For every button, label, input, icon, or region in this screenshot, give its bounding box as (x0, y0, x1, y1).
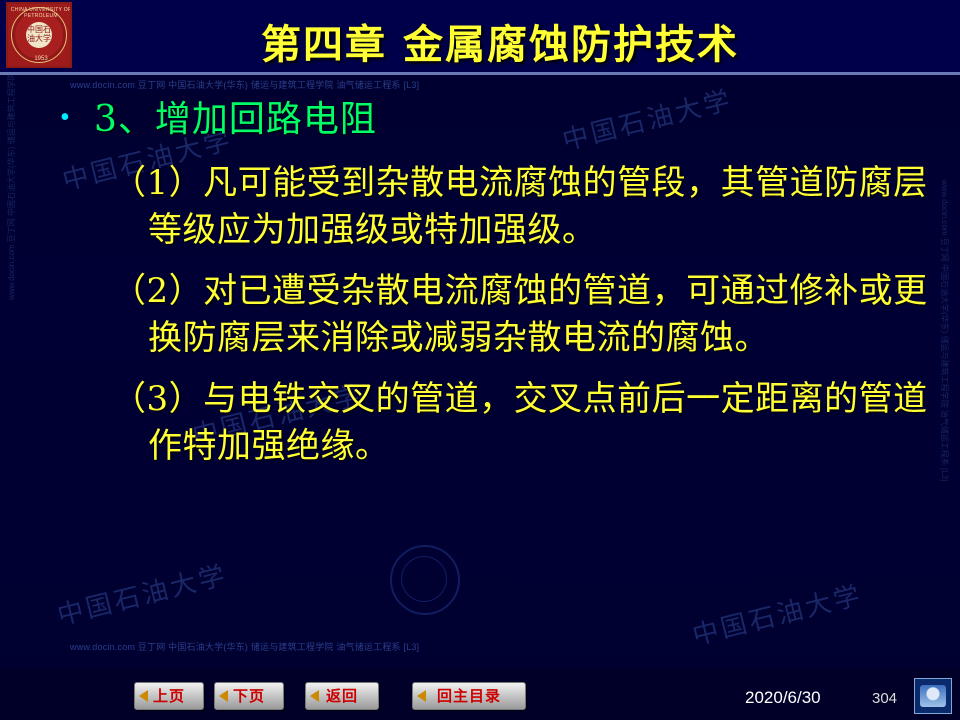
footer-logo-icon (914, 678, 952, 714)
return-label: 返回 (326, 687, 358, 705)
body-paragraph-2: （2）对已遭受杂散电流腐蚀的管道，可通过修补或更换防腐层来消除或减弱杂散电流的腐… (112, 268, 938, 362)
body-paragraph-1: （1）凡可能受到杂散电流腐蚀的管段，其管道防腐层等级应为加强级或特加强级。 (112, 160, 938, 254)
main-menu-label: 回主目录 (437, 687, 501, 705)
footer-date: 2020/6/30 (745, 688, 821, 708)
arrow-icon (310, 690, 319, 702)
page-title: 第四章 金属腐蚀防护技术 (150, 12, 850, 70)
watermark-line: www.docin.com 豆丁网 中国石油大学(华东) 储运与建筑工程学院 油… (70, 78, 419, 91)
watermark-text: 中国石油大学 (53, 555, 231, 633)
arrow-icon (417, 690, 426, 702)
logo-year: 1953 (8, 56, 72, 62)
next-page-label: 下页 (233, 687, 265, 705)
body-paragraph-3: （3）与电铁交叉的管道，交叉点前后一定距离的管道作特加强绝缘。 (112, 376, 938, 470)
arrow-icon (139, 690, 148, 702)
watermark-circle (390, 545, 460, 615)
watermark-line: www.docin.com 豆丁网 中国石油大学(华东) 储运与建筑工程学院 油… (70, 640, 419, 653)
slide-header: CHINA UNIVERSITY OF PETROLEUM 中国石油大学 195… (0, 0, 960, 75)
prev-page-label: 上页 (153, 687, 185, 705)
return-button[interactable]: 返回 (305, 682, 379, 710)
prev-page-button[interactable]: 上页 (134, 682, 204, 710)
section-heading: 3、增加回路电阻 (94, 96, 377, 144)
footer-page-number: 304 (872, 690, 897, 707)
university-logo: CHINA UNIVERSITY OF PETROLEUM 中国石油大学 195… (6, 2, 72, 68)
watermark-text: 中国石油大学 (688, 575, 866, 653)
heading-row: • 3、增加回路电阻 (60, 96, 960, 144)
next-page-button[interactable]: 下页 (214, 682, 284, 710)
arrow-icon (219, 690, 228, 702)
bullet-icon: • (60, 96, 94, 140)
slide: www.docin.com 豆丁网 中国石油大学(华东) 储运与建筑工程学院 油… (0, 0, 960, 720)
footer-logo-shape (920, 685, 946, 707)
main-menu-button[interactable]: 回主目录 (412, 682, 526, 710)
logo-outer-text: CHINA UNIVERSITY OF PETROLEUM (8, 7, 72, 19)
slide-content: • 3、增加回路电阻 （1）凡可能受到杂散电流腐蚀的管段，其管道防腐层等级应为加… (0, 96, 960, 470)
logo-inner-text: 中国石油大学 (26, 22, 52, 48)
